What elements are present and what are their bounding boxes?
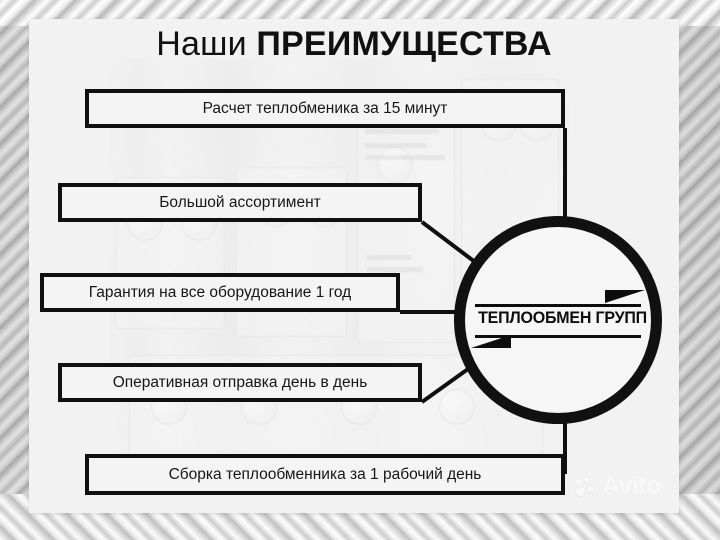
avito-watermark-label: Avito	[602, 474, 661, 499]
benefit-label-warranty: Гарантия на все оборудование 1 год	[89, 285, 351, 301]
page-title-light: Наши	[156, 25, 256, 63]
benefit-box-assembly: Сборка теплообменника за 1 рабочий день	[85, 454, 565, 495]
benefit-label-calculation: Расчет теплобменика за 15 минут	[203, 101, 448, 117]
page-title: Наши ПРЕИМУЩЕСТВА	[29, 25, 679, 64]
company-logo: ТЕПЛООБМЕН ГРУПП	[454, 216, 662, 424]
benefit-box-shipping: Оперативная отправка день в день	[58, 363, 422, 402]
slide-screenshot: Наши ПРЕИМУЩЕСТВА Расчет теплобменика за…	[0, 0, 720, 540]
page-title-heavy: ПРЕИМУЩЕСТВА	[256, 25, 551, 63]
arrow-right-icon	[605, 290, 645, 303]
benefit-box-assortment: Большой ассортимент	[58, 183, 422, 222]
benefit-label-assortment: Большой ассортимент	[159, 195, 320, 211]
presentation-slide: Наши ПРЕИМУЩЕСТВА Расчет теплобменика за…	[29, 19, 679, 513]
avito-dots-icon	[575, 477, 597, 496]
logo-mark: ТЕПЛООБМЕН ГРУПП	[473, 293, 643, 347]
benefit-box-calculation: Расчет теплобменика за 15 минут	[85, 89, 565, 128]
benefit-label-shipping: Оперативная отправка день в день	[113, 375, 368, 391]
benefit-label-assembly: Сборка теплообменника за 1 рабочий день	[169, 467, 482, 483]
benefit-box-warranty: Гарантия на все оборудование 1 год	[40, 273, 400, 312]
arrow-left-icon	[471, 335, 511, 348]
logo-text: ТЕПЛООБМЕН ГРУПП	[478, 308, 638, 328]
avito-watermark: Avito	[575, 474, 661, 499]
logo-top-rule	[475, 304, 641, 307]
